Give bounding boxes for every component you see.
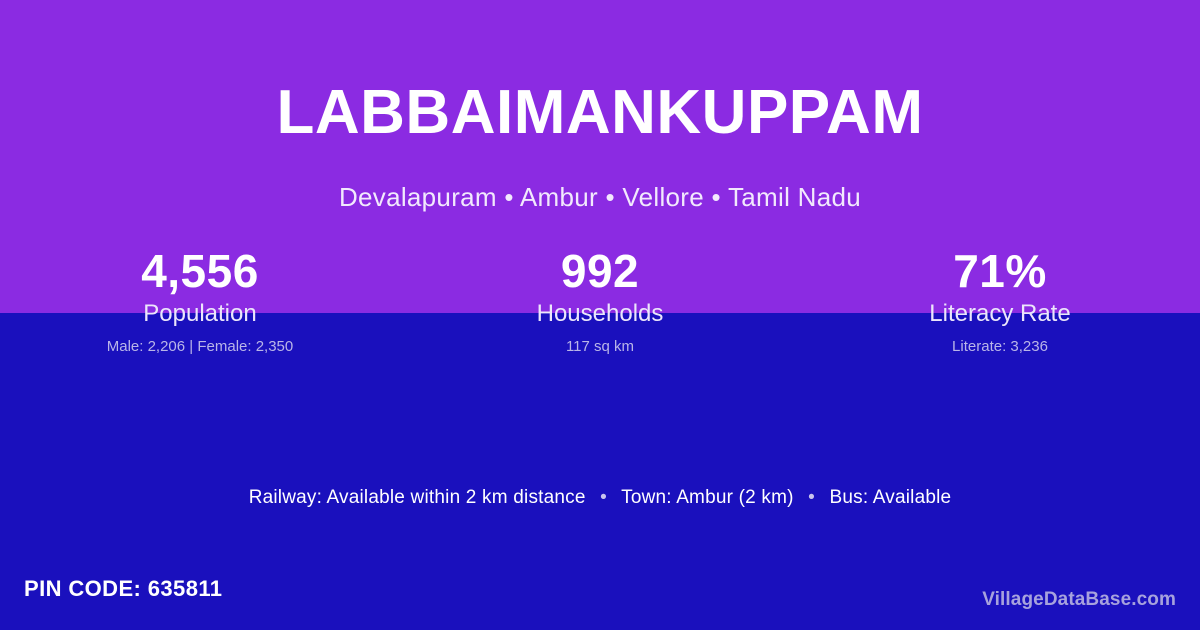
stat-sublabel: Male: 2,206 | Female: 2,350 — [0, 339, 400, 356]
stat-value: 4,556 — [0, 247, 400, 295]
stat-sublabel: Literate: 3,236 — [800, 339, 1200, 356]
stat-value: 992 — [400, 247, 800, 295]
facility-railway: Railway: Available within 2 km distance — [249, 487, 586, 508]
stat-population: 4,556 Population Male: 2,206 | Female: 2… — [0, 247, 400, 355]
facility-separator: • — [799, 487, 824, 508]
page-title: LABBAIMANKUPPAM — [0, 82, 1200, 144]
pin-code: PIN CODE: 635811 — [24, 576, 222, 602]
facility-town: Town: Ambur (2 km) — [621, 487, 794, 508]
facility-bus: Bus: Available — [829, 487, 951, 508]
site-brand: VillageDataBase.com — [982, 589, 1176, 611]
stat-households: 992 Households 117 sq km — [400, 247, 800, 355]
stat-value: 71% — [800, 247, 1200, 295]
stat-label: Population — [0, 301, 400, 327]
facilities-line: Railway: Available within 2 km distance … — [0, 487, 1200, 509]
stats-row: 4,556 Population Male: 2,206 | Female: 2… — [0, 247, 1200, 355]
stat-sublabel: 117 sq km — [400, 339, 800, 356]
stat-label: Households — [400, 301, 800, 327]
breadcrumb: Devalapuram • Ambur • Vellore • Tamil Na… — [0, 182, 1200, 213]
stat-literacy-rate: 71% Literacy Rate Literate: 3,236 — [800, 247, 1200, 355]
village-info-card: LABBAIMANKUPPAM Devalapuram • Ambur • Ve… — [0, 0, 1200, 630]
stat-label: Literacy Rate — [800, 301, 1200, 327]
facility-separator: • — [591, 487, 616, 508]
